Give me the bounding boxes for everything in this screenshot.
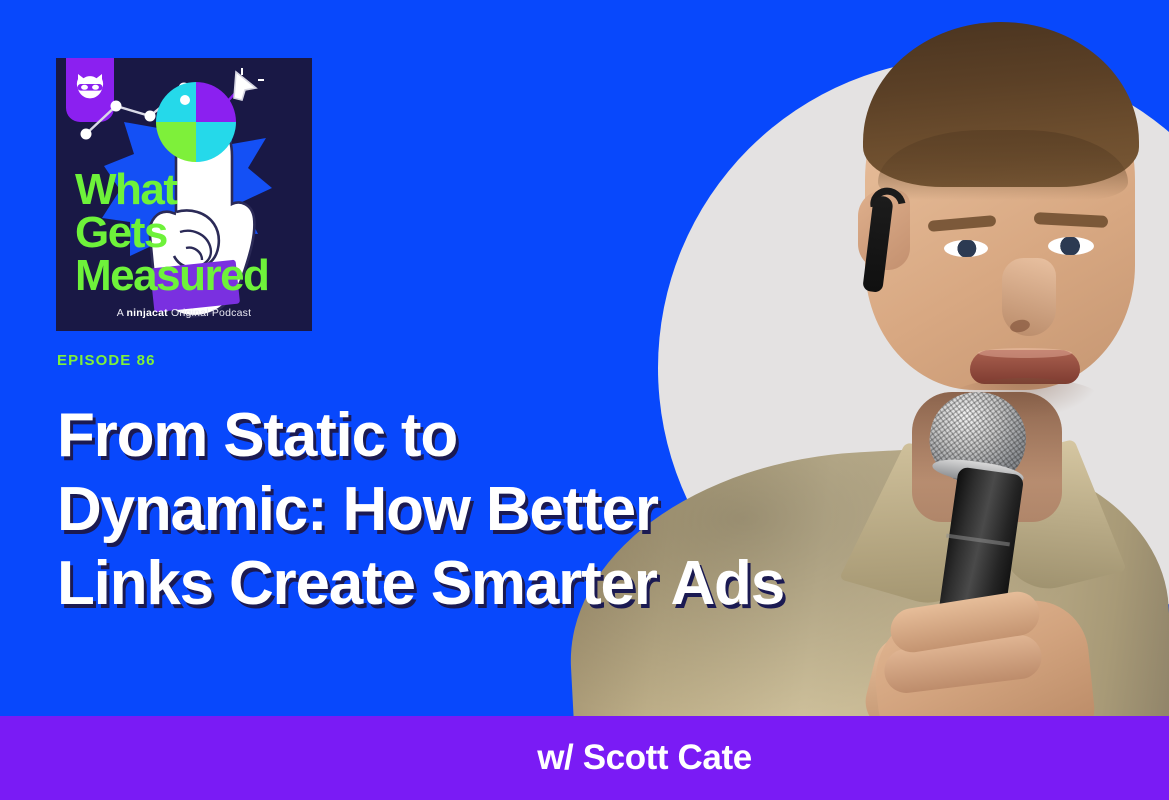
guest-name-label: w/ Scott Cate bbox=[0, 716, 1169, 800]
episode-number-label: EPISODE 86 bbox=[57, 352, 156, 369]
episode-title-line-1: From Static to bbox=[57, 399, 1057, 473]
cover-art-footer-prefix: A bbox=[117, 307, 127, 319]
episode-title-line-2: Dynamic: How Better bbox=[57, 473, 1057, 547]
episode-graphic: What Gets Measured A ninjacat Original P… bbox=[0, 0, 1169, 800]
episode-title: From Static to Dynamic: How Better Links… bbox=[57, 399, 1057, 621]
cover-art-footer: A ninjacat Original Podcast bbox=[56, 307, 312, 319]
guest-footer-bar: w/ Scott Cate bbox=[0, 716, 1169, 800]
cover-art-footer-suffix: Original Podcast bbox=[168, 307, 251, 319]
cover-art-title-line-3: Measured bbox=[75, 254, 268, 297]
lip-highlight bbox=[978, 348, 1072, 358]
cover-art-title-line-2: Gets bbox=[75, 211, 268, 254]
cover-art-footer-brand: ninjacat bbox=[127, 307, 168, 319]
podcast-cover-art: What Gets Measured A ninjacat Original P… bbox=[56, 58, 312, 331]
eye-right bbox=[1048, 237, 1094, 255]
episode-title-line-3: Links Create Smarter Ads bbox=[57, 547, 1057, 621]
eye-left bbox=[944, 240, 988, 257]
cursor-arrow-icon bbox=[206, 64, 268, 126]
cover-art-title-line-1: What bbox=[75, 168, 268, 211]
cover-art-title: What Gets Measured bbox=[75, 168, 268, 297]
